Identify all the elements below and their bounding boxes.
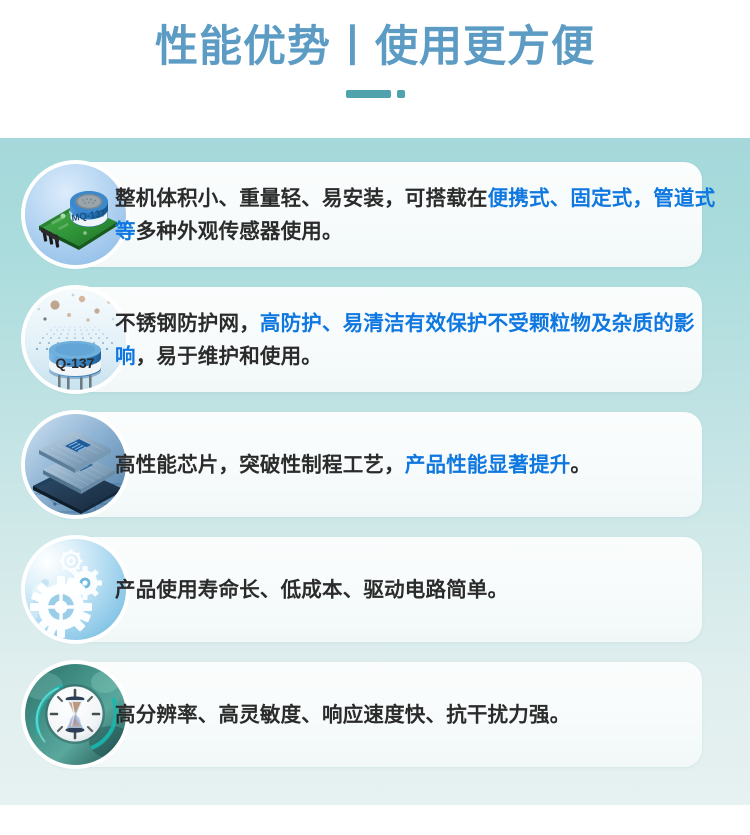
features-panel: MQ-137 整机体积小、重量轻、易安装，可搭载在便携式、固定式，管道式等多种外… [0,138,750,805]
page-title: 性能优势丨使用更方便 [155,22,595,73]
page-header: 性能优势丨使用更方便 [0,0,750,138]
feature-text: 不锈钢防护网，高防护、易清洁有效保护不受颗粒物及杂质的影响，易于维护和使用。 [115,307,724,373]
title-divider [346,90,405,98]
divider-dot-icon [397,90,405,98]
highlight-text: 高防护、易清洁有效保护不受颗粒物及杂质的影响 [115,312,695,368]
gears-thumbnail [25,539,126,640]
feature-text: 高分辨率、高灵敏度、响应速度快、抗干扰力强。 [115,698,724,731]
list-item[interactable]: Q-137 不锈钢防护网，高防护、易清洁有效保护不受颗粒物及杂质的影响，易于维护… [0,287,750,392]
list-item[interactable]: MQ-137 整机体积小、重量轻、易安装，可搭载在便携式、固定式，管道式等多种外… [0,162,750,267]
stainless-steel-mesh-sensor-thumbnail: Q-137 [25,289,126,390]
highlight-text: 产品性能显著提升 [405,453,571,476]
feature-text: 产品使用寿命长、低成本、驱动电路简单。 [115,573,724,606]
page-footer [0,805,750,835]
feature-card-list: MQ-137 整机体积小、重量轻、易安装，可搭载在便携式、固定式，管道式等多种外… [0,138,750,767]
divider-bar-icon [346,90,391,98]
highlight-text: 便携式、固定式，管道式等 [115,187,715,243]
list-item[interactable]: 高分辨率、高灵敏度、响应速度快、抗干扰力强。 [0,662,750,767]
semiconductor-chip-thumbnail [25,414,126,515]
list-item[interactable]: 产品使用寿命长、低成本、驱动电路简单。 [0,537,750,642]
list-item[interactable]: 高性能芯片，突破性制程工艺，产品性能显著提升。 [0,412,750,517]
svg-text:Q-137: Q-137 [56,355,95,371]
mq137-gas-sensor-module-thumbnail: MQ-137 [25,164,126,265]
hourglass-clock-thumbnail [25,664,126,765]
feature-text: 整机体积小、重量轻、易安装，可搭载在便携式、固定式，管道式等多种外观传感器使用。 [115,182,724,248]
feature-text: 高性能芯片，突破性制程工艺，产品性能显著提升。 [115,448,724,481]
